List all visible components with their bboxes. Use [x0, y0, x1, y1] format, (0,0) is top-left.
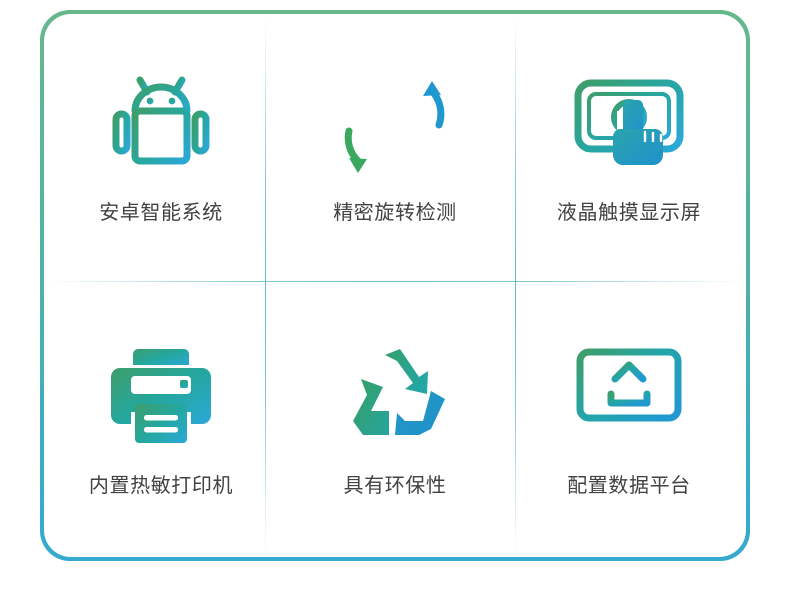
- android-robot-icon: [109, 73, 213, 181]
- feature-cell-thermal-printer[interactable]: 内置热敏打印机: [44, 281, 278, 557]
- feature-cell-android-smart-system[interactable]: 安卓智能系统: [44, 14, 278, 281]
- feature-grid-card: 安卓智能系统: [40, 10, 750, 561]
- feature-cell-data-platform[interactable]: 配置数据平台: [512, 281, 746, 557]
- feature-label: 配置数据平台: [567, 476, 691, 496]
- feature-label: 安卓智能系统: [99, 203, 223, 223]
- screenshot-canvas: 安卓智能系统: [0, 0, 790, 612]
- touchscreen-icon: [573, 73, 685, 181]
- rotation-detect-icon: [337, 73, 453, 181]
- feature-grid: 安卓智能系统: [44, 14, 746, 557]
- feature-cell-eco-friendly[interactable]: 具有环保性: [278, 281, 512, 557]
- feature-grid-card-inner: 安卓智能系统: [44, 14, 746, 557]
- feature-label: 精密旋转检测: [333, 203, 457, 223]
- feature-label: 液晶触摸显示屏: [557, 203, 701, 223]
- printer-icon: [111, 342, 211, 450]
- feature-cell-rotation-detection[interactable]: 精密旋转检测: [278, 14, 512, 281]
- feature-label: 具有环保性: [344, 476, 447, 496]
- monitor-upload-icon: [575, 342, 683, 450]
- feature-label: 内置热敏打印机: [89, 476, 233, 496]
- feature-cell-touch-display[interactable]: 液晶触摸显示屏: [512, 14, 746, 281]
- recycle-icon: [341, 342, 449, 450]
